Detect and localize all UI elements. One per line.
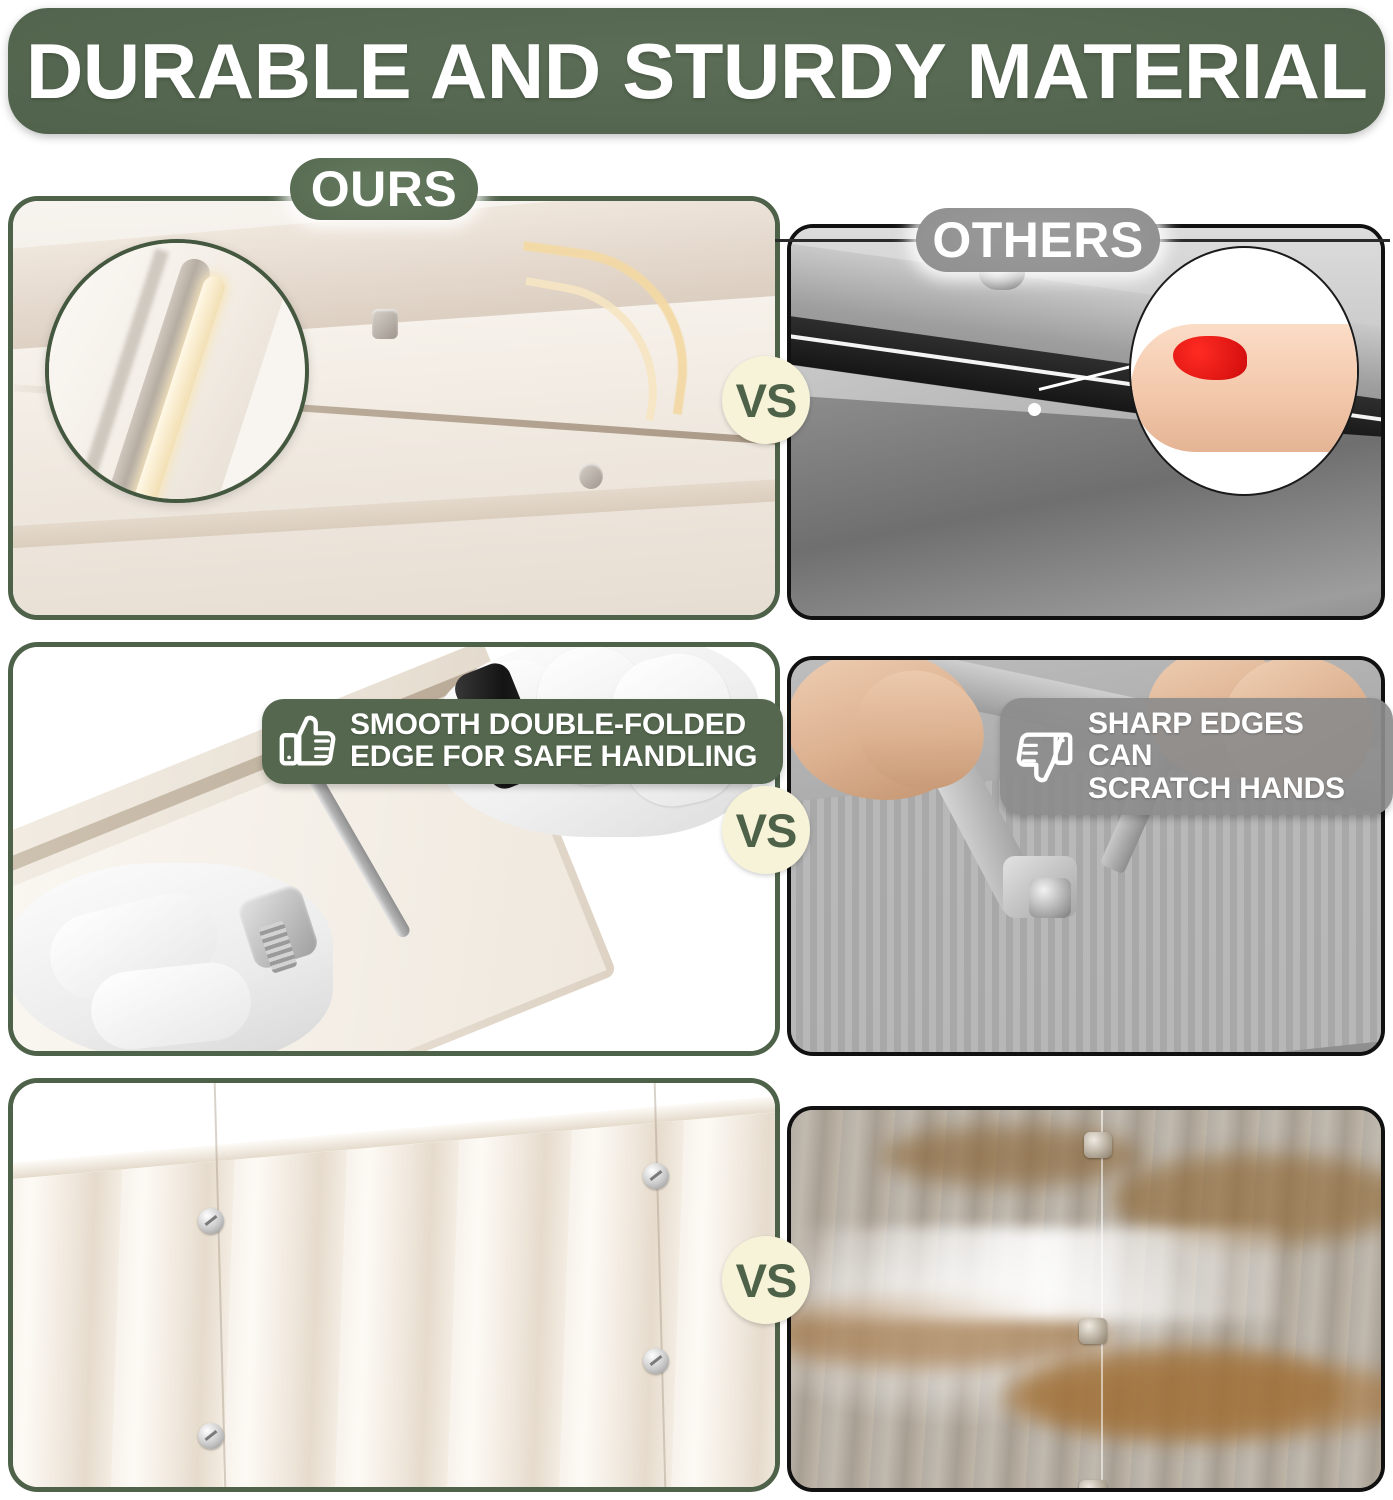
thumbs-up-icon — [276, 710, 338, 772]
rusty-bolt-3 — [1079, 1480, 1107, 1492]
column-header-others-label: OTHERS — [932, 211, 1143, 269]
comparison-row-3: STAINLESS STEEL SCREWS AND BOLTS EASY TO… — [0, 1078, 1393, 1492]
ours-caption-1-text: SMOOTH DOUBLE-FOLDED EDGE FOR SAFE HANDL… — [350, 709, 757, 774]
panel-seam-right — [654, 1083, 667, 1487]
column-header-ours-label: OURS — [311, 160, 457, 218]
infographic-page: DURABLE AND STURDY MATERIAL OURS OTHERS — [0, 0, 1393, 1500]
rust-stain-4 — [1021, 1346, 1341, 1438]
ours-panel-3 — [8, 1078, 780, 1492]
panel-glare — [801, 1228, 1281, 1320]
comparison-row-1: SMOOTH DOUBLE-FOLDED EDGE FOR SAFE HANDL… — [0, 196, 1393, 620]
others-panel-3 — [787, 1106, 1385, 1492]
page-title: DURABLE AND STURDY MATERIAL — [26, 32, 1368, 110]
column-header-others: OTHERS — [916, 208, 1160, 272]
others-photo-1 — [791, 228, 1381, 616]
inset-bleeding-finger — [1129, 246, 1359, 496]
rusty-bolt-2 — [1079, 1318, 1107, 1344]
vs-badge-3-label: VS — [736, 1253, 797, 1308]
thumbs-down-icon — [1014, 726, 1076, 788]
others-photo-3 — [791, 1110, 1381, 1488]
vs-badge-1-label: VS — [736, 373, 797, 428]
finger — [1131, 324, 1359, 452]
panel-seam — [1101, 1110, 1103, 1488]
ours-photo-3 — [13, 1083, 775, 1487]
stainless-screw-2 — [643, 1163, 669, 1189]
column-header-ours: OURS — [290, 158, 478, 220]
rusty-bolt-1 — [1084, 1132, 1112, 1158]
others-panel-1 — [787, 224, 1385, 620]
vs-badge-1: VS — [722, 356, 810, 444]
others-connector-line-right — [1140, 239, 1390, 242]
bed-knob-lower — [579, 463, 603, 489]
hex-nut — [1029, 878, 1071, 918]
vs-badge-3: VS — [722, 1236, 810, 1324]
bed-knob-upper — [372, 309, 398, 339]
ours-photo-1 — [13, 201, 775, 615]
stainless-screw-4 — [643, 1348, 669, 1374]
vs-badge-2: VS — [722, 786, 810, 874]
others-caption-1: SHARP EDGES CAN SCRATCH HANDS — [1000, 698, 1393, 815]
stainless-screw-3 — [198, 1423, 224, 1449]
vs-badge-2-label: VS — [736, 803, 797, 858]
others-caption-1-text: SHARP EDGES CAN SCRATCH HANDS — [1088, 708, 1367, 805]
ours-panel-1 — [8, 196, 780, 620]
page-title-banner: DURABLE AND STURDY MATERIAL — [8, 8, 1385, 134]
ours-caption-1: SMOOTH DOUBLE-FOLDED EDGE FOR SAFE HANDL… — [262, 699, 783, 784]
stainless-screw-1 — [198, 1208, 224, 1234]
pointer-dot — [1028, 403, 1041, 416]
magnifier-inset-folded-edge — [45, 239, 309, 503]
